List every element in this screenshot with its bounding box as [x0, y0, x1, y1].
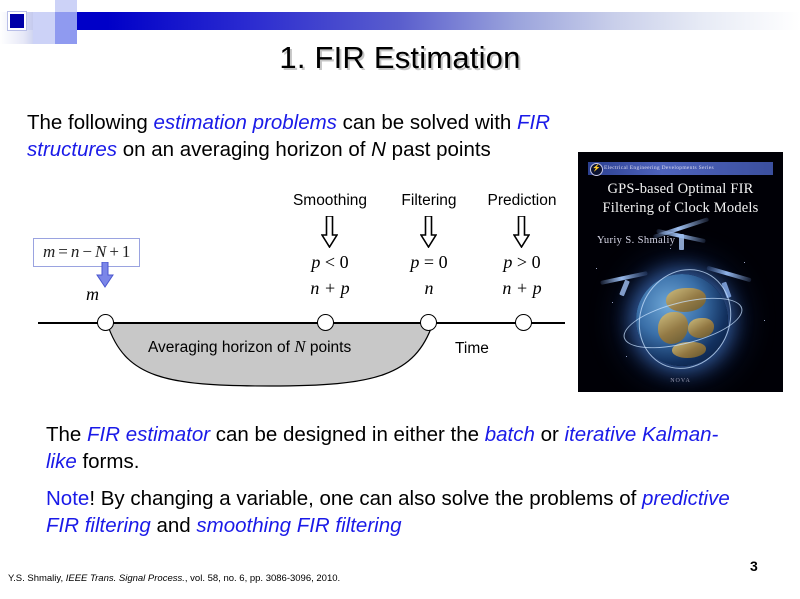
- note-part1: ! By changing a variable, one can also s…: [89, 487, 642, 510]
- equation-minus: −: [79, 242, 95, 261]
- lead-text-part2: can be solved with: [337, 111, 517, 134]
- smoothing-index-text: n + p: [310, 278, 349, 298]
- prediction-condition-op: >: [517, 252, 527, 272]
- page-title: 1. FIR Estimation: [0, 40, 800, 76]
- book-author: Yuriy S. Shmaliy: [597, 235, 675, 246]
- lead-text-part4: past points: [386, 138, 491, 161]
- book-seal-icon: ⚡: [590, 163, 603, 176]
- lead-emphasis-estimation-problems: estimation problems: [153, 111, 336, 134]
- timeline-point-m: [97, 314, 114, 331]
- note-keyword: Note: [46, 487, 89, 510]
- lead-text-part3: on an averaging horizon of: [117, 138, 371, 161]
- star-dot: [744, 262, 745, 263]
- lead-variable-n: N: [371, 138, 386, 161]
- equation-equals: =: [55, 242, 71, 261]
- estimator-part4: forms.: [77, 450, 140, 473]
- note-paragraph: Note! By changing a variable, one can al…: [46, 485, 746, 539]
- book-title-line1: GPS-based Optimal FIR: [578, 180, 783, 199]
- prediction-index: n + p: [477, 278, 567, 299]
- lead-paragraph: The following estimation problems can be…: [27, 109, 572, 163]
- prediction-condition-val: 0: [532, 252, 541, 272]
- timeline-point-n: [420, 314, 437, 331]
- time-axis-line: [38, 322, 565, 324]
- star-dot: [764, 320, 765, 321]
- estimator-emphasis-fir-estimator: FIR estimator: [87, 423, 210, 446]
- time-axis-label: Time: [455, 340, 489, 358]
- lead-text-part1: The following: [27, 111, 153, 134]
- horizon-label-pre: Averaging horizon of: [148, 339, 294, 356]
- prediction-index-text: n + p: [502, 278, 541, 298]
- timeline-point-n-plus-p-smoothing: [317, 314, 334, 331]
- timeline-point-n-plus-p-prediction: [515, 314, 532, 331]
- column-head-smoothing: Smoothing: [285, 192, 375, 210]
- deco-square-medium-1: [55, 12, 77, 30]
- filtering-down-arrow-icon: [420, 216, 437, 248]
- estimator-part3: or: [535, 423, 565, 446]
- horizon-label-post: points: [306, 339, 352, 356]
- equation-one: 1: [122, 242, 131, 261]
- equation-plus: +: [106, 242, 122, 261]
- smoothing-condition: p < 0: [285, 252, 375, 273]
- book-publisher: NOVA: [578, 378, 783, 384]
- deco-square-dark: [10, 14, 24, 28]
- smoothing-condition-op: <: [325, 252, 335, 272]
- footer-journal: IEEE Trans. Signal Process.: [66, 573, 185, 584]
- estimator-part2: can be designed in either the: [210, 423, 485, 446]
- footer-citation: Y.S. Shmaliy, IEEE Trans. Signal Process…: [8, 573, 340, 584]
- estimator-part1: The: [46, 423, 87, 446]
- equation-N: N: [95, 242, 106, 261]
- deco-square-pale-1: [33, 12, 55, 30]
- filtering-condition-op: =: [424, 252, 434, 272]
- star-dot: [612, 302, 613, 303]
- slide-canvas: 1. FIR Estimation The following estimati…: [0, 0, 800, 599]
- estimator-emphasis-batch: batch: [485, 423, 535, 446]
- book-title: GPS-based Optimal FIR Filtering of Clock…: [578, 180, 783, 218]
- book-series-banner-text: Electrical Engineering Developments Seri…: [604, 162, 714, 175]
- smoothing-index: n + p: [285, 278, 375, 299]
- prediction-condition: p > 0: [477, 252, 567, 273]
- equation-box: m=n−N+1: [33, 238, 140, 267]
- filtering-condition-val: 0: [439, 252, 448, 272]
- header-gradient-bar: [30, 12, 800, 30]
- estimator-paragraph: The FIR estimator can be designed in eit…: [46, 421, 726, 475]
- star-dot: [596, 268, 597, 269]
- note-part2: and: [151, 514, 197, 537]
- star-dot: [626, 356, 627, 357]
- m-point-label: m: [86, 284, 99, 305]
- column-head-filtering: Filtering: [389, 192, 469, 210]
- page-number: 3: [750, 558, 758, 574]
- prediction-down-arrow-icon: [513, 216, 530, 248]
- filtering-index: n: [389, 278, 469, 299]
- horizon-label-variable: N: [294, 337, 305, 356]
- footer-details: , vol. 58, no. 6, pp. 3086-3096, 2010.: [185, 573, 340, 584]
- satellite-body-icon: [619, 280, 630, 297]
- note-emphasis-smoothing-fir-filtering: smoothing FIR filtering: [196, 514, 401, 537]
- book-title-line2: Filtering of Clock Models: [578, 199, 783, 218]
- deco-square-pale-3: [55, 0, 77, 12]
- smoothing-condition-val: 0: [340, 252, 349, 272]
- deco-square-blue: [77, 12, 99, 30]
- smoothing-down-arrow-icon: [321, 216, 338, 248]
- book-cover-image: ⚡ Electrical Engineering Developments Se…: [578, 152, 783, 392]
- column-head-prediction: Prediction: [477, 192, 567, 210]
- footer-author: Y.S. Shmaliy,: [8, 573, 66, 584]
- filtering-index-text: n: [425, 278, 434, 298]
- averaging-horizon-label: Averaging horizon of N points: [148, 337, 351, 357]
- equation-lhs: m: [43, 242, 55, 261]
- star-dot: [670, 248, 671, 249]
- filtering-condition: p = 0: [389, 252, 469, 273]
